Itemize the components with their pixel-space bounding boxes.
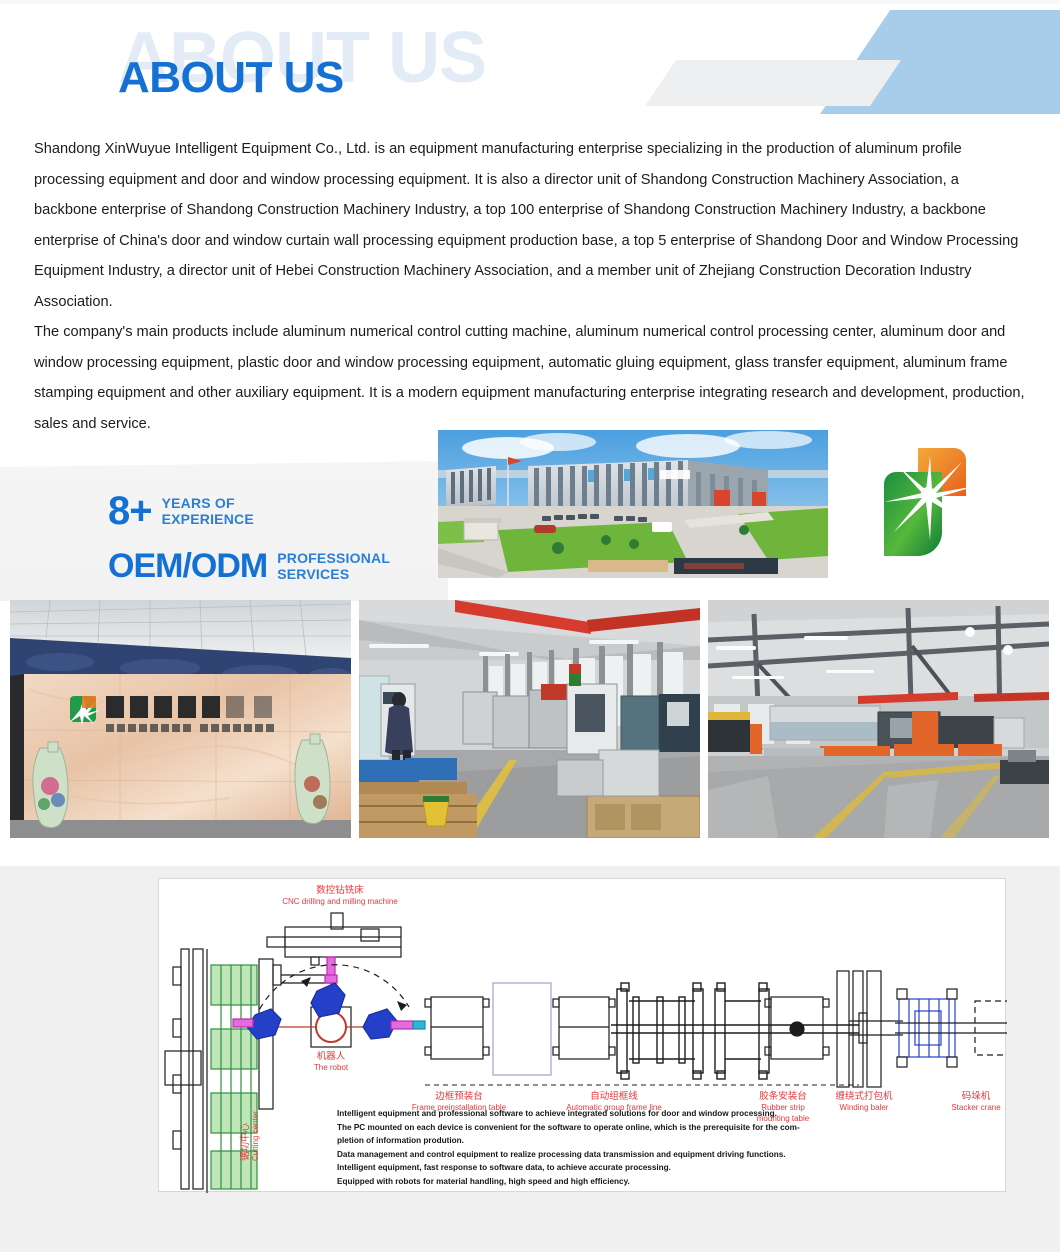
diagram-label-cnc-drilling: 数控钻铣床 CNC drilling and milling machine <box>225 885 455 907</box>
decorative-vase-left <box>33 742 68 828</box>
diagram-label-cutting-center-cn: 锯切中心 <box>237 1111 251 1161</box>
diagram-label-winding-baler-cn: 缠绕式打包机 <box>819 1091 909 1102</box>
photo-company-lobby <box>10 600 351 838</box>
stat-years-label: YEARS OF EXPERIENCE <box>162 495 254 527</box>
stat-oem-value: OEM/ODM <box>108 549 267 583</box>
diagram-label-robot-cn: 机器人 <box>281 1051 381 1062</box>
stat-years-value: 8+ <box>108 491 152 531</box>
diagram-note-5: Intelligent equipment, fast response to … <box>337 1161 897 1175</box>
stat-years-label-line2: EXPERIENCE <box>162 511 254 527</box>
diagram-label-robot-en: The robot <box>281 1062 381 1073</box>
stat-oem-label: PROFESSIONAL SERVICES <box>277 550 390 582</box>
production-line-diagram-band: 数控钻铣床 CNC drilling and milling machine 机… <box>0 866 1060 1252</box>
diagram-label-stacker-crane-en: Stacker crane <box>931 1102 1021 1113</box>
decorative-vase-right <box>295 734 330 824</box>
diagram-label-stacker-crane-cn: 码垛机 <box>931 1091 1021 1102</box>
diagram-label-cutting-center-en: Cutting center <box>251 1111 260 1161</box>
intro-paragraph-2: The company's main products include alum… <box>34 317 1026 439</box>
page-header: ABOUT US ABOUT US <box>0 0 1060 126</box>
page-title: ABOUT US ABOUT US <box>118 22 486 94</box>
workshop-photo-strip <box>10 600 1050 838</box>
stat-oem-odm: OEM/ODM PROFESSIONAL SERVICES <box>108 549 390 583</box>
intro-paragraph-1: Shandong XinWuyue Intelligent Equipment … <box>34 134 1026 317</box>
diagram-note-6: Equipped with robots for material handli… <box>337 1175 897 1189</box>
photo-machining-workshop <box>359 600 700 838</box>
intro-text-block: Shandong XinWuyue Intelligent Equipment … <box>0 126 1060 439</box>
factory-aerial-photo <box>438 430 828 578</box>
stat-oem-label-line1: PROFESSIONAL <box>277 550 390 566</box>
diagram-note-2: The PC mounted on each device is conveni… <box>337 1121 897 1135</box>
diagram-label-rubber-strip-cn: 胶条安装台 <box>747 1091 819 1102</box>
diagram-label-cnc-drilling-cn: 数控钻铣床 <box>225 885 455 896</box>
company-logo <box>880 436 1008 572</box>
header-gray-shape <box>645 60 901 106</box>
stat-oem-label-line2: SERVICES <box>277 566 390 582</box>
diagram-label-cutting-center: 锯切中心 Cutting center <box>237 1111 260 1161</box>
production-line-diagram-card: 数控钻铣床 CNC drilling and milling machine 机… <box>158 878 1006 1192</box>
photo-assembly-workshop <box>708 600 1049 838</box>
about-us-page: ABOUT US ABOUT US Shandong XinWuyue Inte… <box>0 0 1060 1252</box>
diagram-label-group-frame-line-cn: 自动组框线 <box>539 1091 689 1102</box>
diagram-label-robot: 机器人 The robot <box>281 1051 381 1073</box>
diagram-label-cnc-drilling-en: CNC drilling and milling machine <box>225 896 455 907</box>
diagram-note-3: pletion of information prodution. <box>337 1134 897 1148</box>
stat-years-label-line1: YEARS OF <box>162 495 235 511</box>
diagram-note-1: Intelligent equipment and professional s… <box>337 1107 897 1121</box>
stat-years-experience: 8+ YEARS OF EXPERIENCE <box>108 491 254 531</box>
diagram-note-4: Data management and control equipment to… <box>337 1148 897 1162</box>
diagram-notes: Intelligent equipment and professional s… <box>337 1107 897 1189</box>
diagram-label-stacker-crane: 码垛机 Stacker crane <box>931 1091 1021 1113</box>
page-title-main: ABOUT US <box>118 56 344 100</box>
diagram-label-frame-preinstallation-cn: 边框预装台 <box>391 1091 527 1102</box>
